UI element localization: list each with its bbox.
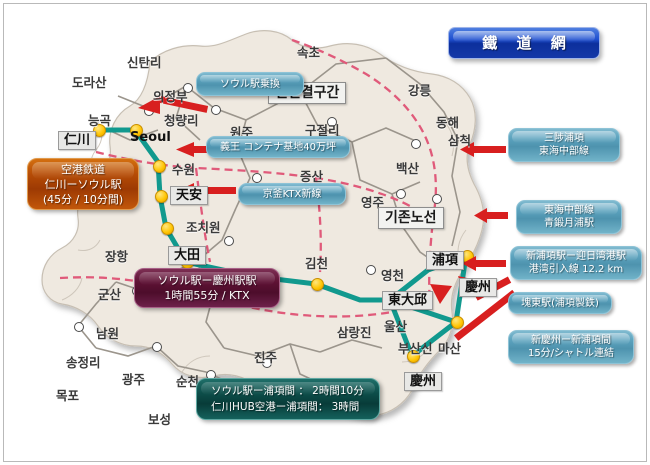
minor-station-dot (432, 194, 442, 204)
station-dot (155, 190, 168, 203)
callout-samcheok-pohang[interactable]: 三陟浦項 東海中部線 (508, 128, 620, 162)
railway-network-map: 신탄리 도라산 의정부 능곡 청량리 속초 강릉 동해 삼척 원주 구절리 제천… (0, 0, 650, 465)
city-label: 부산신 (398, 338, 433, 357)
title-banner: 鐵 道 網 (448, 27, 600, 59)
callout-airport-railroad[interactable]: 空港鉄道 仁川ーソウル駅 (45分 / 10分間) (27, 158, 139, 210)
city-label: 속초 (297, 42, 320, 61)
city-label: 조치원 (186, 217, 221, 236)
callout-line: 青鍛月浦駅 (544, 217, 594, 230)
city-label: 광주 (122, 369, 145, 388)
callout-line: 三陟浦項 (544, 132, 584, 145)
city-label: 신탄리 (127, 52, 162, 71)
city-label: 보성 (148, 409, 171, 428)
city-label-daejeon: 大田 (168, 246, 206, 265)
callout-line: 塊東駅(浦項製鉄) (521, 297, 599, 310)
minor-station-dot (366, 265, 376, 275)
callout-line: ソウル駅乗換 (220, 78, 280, 91)
callout-line: 空港鉄道 (61, 162, 105, 177)
callout-line: ソウル駅ー浦項間 ： 2時間10分 (211, 383, 364, 399)
city-label: 장항 (105, 246, 128, 265)
city-label: 능곡 (88, 110, 111, 129)
callout-line: 義王 コンテナ基地40万坪 (220, 141, 336, 154)
city-label: 군산 (98, 284, 121, 303)
callout-goedong-station[interactable]: 塊東駅(浦項製鉄) (508, 292, 612, 314)
city-label: 마산 (438, 338, 461, 357)
city-label: 강릉 (408, 80, 431, 99)
callout-line: 港湾引入線 12.2 km (529, 263, 623, 276)
station-dot (311, 278, 324, 291)
city-label-seoul: Seoul (130, 130, 171, 145)
city-label: 송정리 (66, 352, 101, 371)
title-text: 鐵 道 網 (449, 28, 599, 58)
city-label: 도라산 (72, 72, 107, 91)
callout-line: 京釜KTX新線 (263, 188, 322, 201)
callout-gyeongbu-ktx-new-line[interactable]: 京釜KTX新線 (238, 183, 346, 205)
city-label: 김천 (305, 253, 328, 272)
legend-existing-line: 기존노선 (378, 207, 444, 229)
minor-station-dot (396, 189, 406, 199)
city-label-gyeongju1: 慶州 (459, 278, 497, 297)
callout-seoul-pohang-times[interactable]: ソウル駅ー浦項間 ： 2時間10分 仁川HUB空港ー浦項間： 3時間 (196, 378, 380, 420)
station-dot (153, 160, 166, 173)
arrow-to-pohang-port (462, 256, 506, 272)
arrow-to-existing-line (474, 208, 508, 224)
callout-line: 1時間55分 / KTX (164, 288, 249, 303)
city-label: 의정부 (153, 86, 188, 105)
city-label-gyeongju2: 慶州 (404, 372, 442, 391)
minor-station-dot (252, 173, 262, 183)
minor-station-dot (224, 236, 234, 246)
city-label: 백산 (396, 158, 419, 177)
city-label-incheon: 仁川 (58, 131, 96, 150)
city-label: 수원 (172, 159, 195, 178)
callout-seoul-station-transfer[interactable]: ソウル駅乗換 (196, 72, 304, 96)
city-label-pohang: 浦項 (426, 251, 464, 270)
city-label: 동해 (436, 112, 459, 131)
callout-line: 東海中部線 (544, 204, 594, 217)
minor-station-dot (74, 322, 84, 332)
city-label-dongdaegu: 東大邱 (382, 291, 433, 310)
callout-line: (45分 / 10分間) (43, 192, 123, 207)
city-label: 진주 (254, 347, 277, 366)
city-label-cheonan: 天安 (170, 186, 208, 205)
city-label: 목포 (56, 385, 79, 404)
callout-line: ソウル駅ー慶州駅駅 (158, 273, 257, 288)
callout-shin-gyeongju-pohang[interactable]: 新慶州ー新浦項間 15分/シャトル連結 (508, 330, 634, 364)
station-dot (161, 222, 174, 235)
callout-line: 仁川ーソウル駅 (45, 177, 122, 192)
callout-seoul-gyeongju-ktx[interactable]: ソウル駅ー慶州駅駅 1時間55分 / KTX (134, 268, 280, 308)
minor-station-dot (411, 139, 421, 149)
city-label: 삼척 (448, 130, 471, 149)
callout-donghae-jungbu-line[interactable]: 東海中部線 青鍛月浦駅 (516, 200, 622, 234)
callout-line: 仁川HUB空港ー浦項間： 3時間 (211, 399, 359, 415)
city-label: 삼랑진 (337, 322, 372, 341)
city-label: 영천 (381, 265, 404, 284)
minor-station-dot (211, 105, 221, 115)
city-label: 남원 (96, 323, 119, 342)
callout-line: 新浦項駅ー迎日湾港駅 (526, 250, 626, 263)
city-label: 청량리 (164, 110, 199, 129)
callout-uiwang-container-base[interactable]: 義王 コンテナ基地40万坪 (206, 136, 350, 158)
minor-station-dot (152, 342, 162, 352)
callout-pohang-yeongilman-port[interactable]: 新浦項駅ー迎日湾港駅 港湾引入線 12.2 km (510, 246, 642, 280)
callout-line: 東海中部線 (539, 145, 589, 158)
city-label: 울산 (384, 316, 407, 335)
callout-line: 新慶州ー新浦項間 (531, 334, 611, 347)
callout-line: 15分/シャトル連結 (528, 347, 614, 360)
